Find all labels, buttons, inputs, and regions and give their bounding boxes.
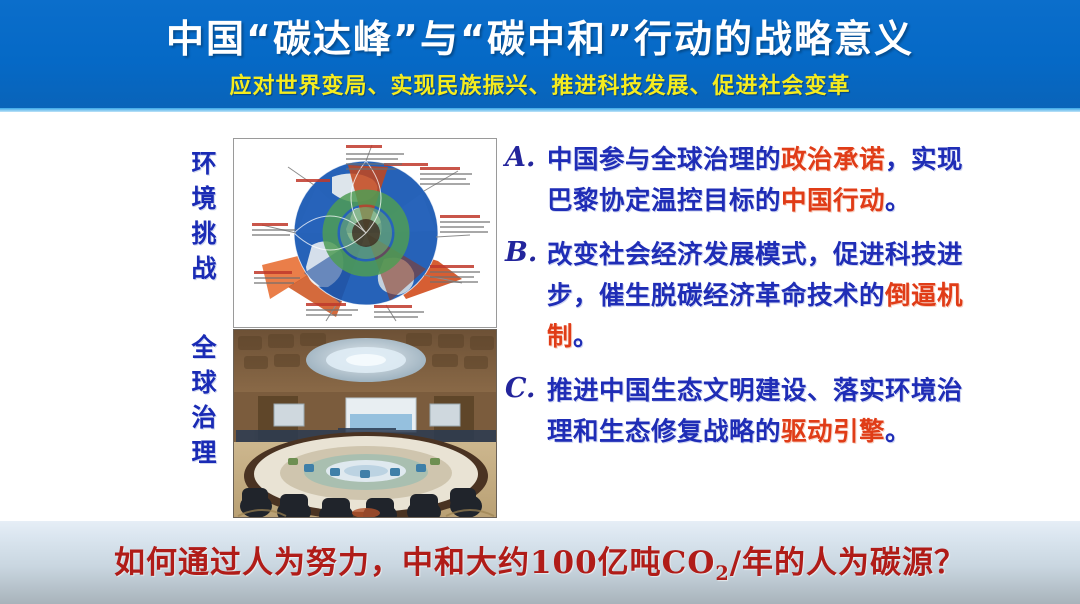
figure-column [233, 138, 497, 518]
bullet-marker-b: B. [505, 237, 537, 268]
list-item: C. 推进中国生态文明建设、落实环境治理和生态修复战略的驱动引擎。 [505, 371, 975, 453]
bullet-text-c: 推进中国生态文明建设、落实环境治理和生态修复战略的驱动引擎。 [547, 376, 963, 447]
bullet-marker-a: A. [505, 142, 535, 173]
footer-question: 如何通过人为努力，中和大约100亿吨CO2/年的人为碳源？ [0, 537, 1080, 585]
bullet-text-b: 改变社会经济发展模式，促进科技进步，催生脱碳经济革命技术的倒逼机制。 [547, 240, 963, 352]
vertical-label-global-governance: 全球治理 [168, 334, 220, 474]
bullet-list: A. 中国参与全球治理的政治承诺，实现巴黎协定温控目标的中国行动。 B. 改变社… [505, 140, 975, 466]
list-item: B. 改变社会经济发展模式，促进科技进步，催生脱碳经济革命技术的倒逼机制。 [505, 235, 975, 358]
footer-subscript: 2 [715, 562, 729, 585]
bullet-text-a: 中国参与全球治理的政治承诺，实现巴黎协定温控目标的中国行动。 [547, 145, 963, 216]
title-banner: 中国“碳达峰”与“碳中和”行动的战略意义 应对世界变局、实现民族振兴、推进科技发… [0, 0, 1080, 112]
planetary-boundaries-graphic [234, 139, 496, 327]
footer-text-after: /年的人为碳源？ [730, 545, 966, 581]
summit-photo-figure [233, 329, 497, 518]
list-item: A. 中国参与全球治理的政治承诺，实现巴黎协定温控目标的中国行动。 [505, 140, 975, 222]
page-subtitle: 应对世界变局、实现民族振兴、推进科技发展、促进社会变革 [0, 68, 1080, 100]
vertical-label-environmental-challenge: 环境挑战 [168, 150, 220, 290]
summit-hall-graphic [234, 330, 496, 517]
footer-text-before: 如何通过人为努力，中和大约100亿吨CO [114, 545, 715, 581]
slide-body: 环境挑战 全球治理 [0, 116, 1080, 522]
vertical-label-group: 环境挑战 全球治理 [168, 140, 220, 516]
footer-banner: 如何通过人为努力，中和大约100亿吨CO2/年的人为碳源？ [0, 521, 1080, 604]
page-title: 中国“碳达峰”与“碳中和”行动的战略意义 [0, 8, 1080, 63]
bullet-marker-c: C. [505, 373, 535, 404]
planetary-boundaries-figure [233, 138, 497, 328]
